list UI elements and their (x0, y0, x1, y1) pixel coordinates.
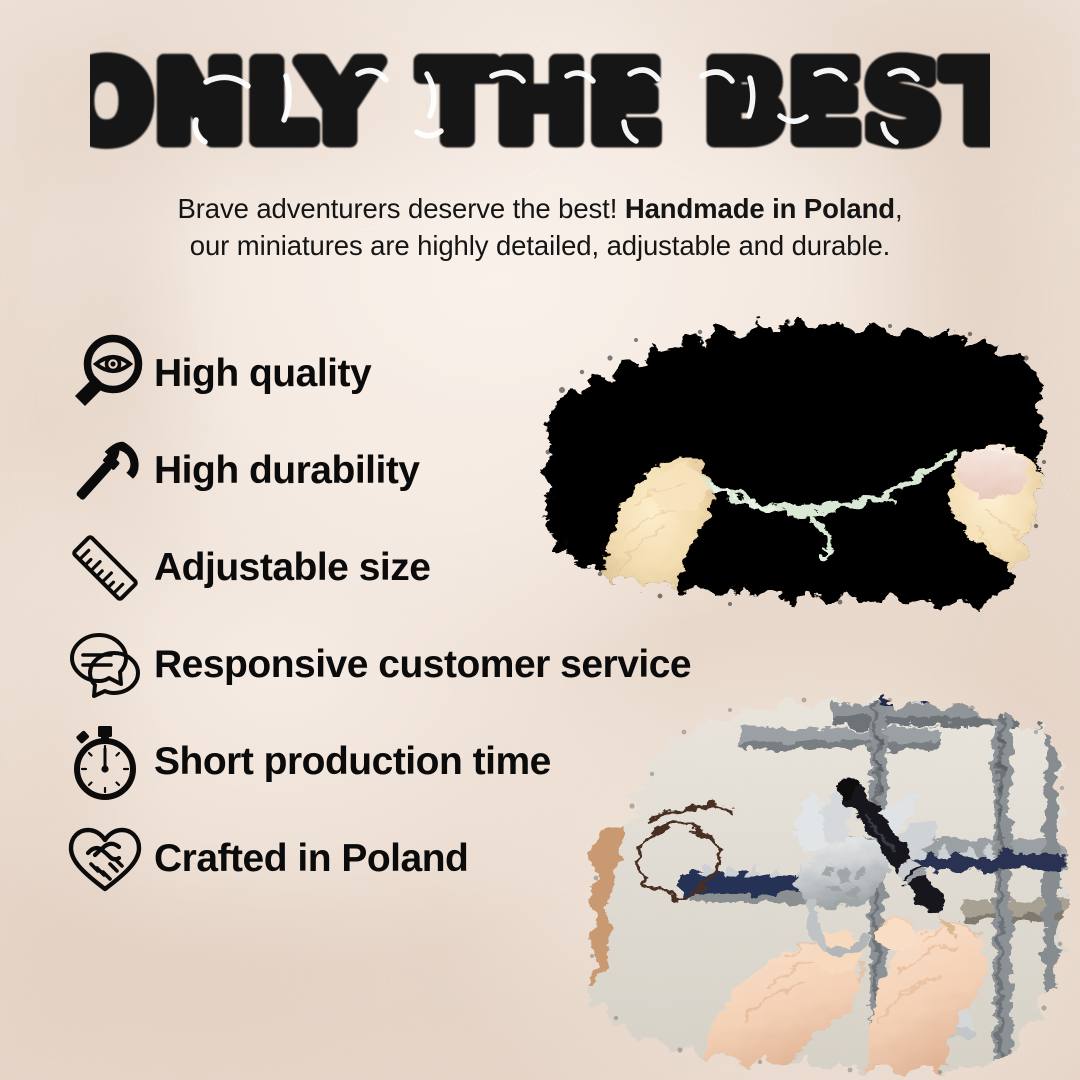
miniature-closeup-photo (540, 312, 1052, 612)
page-title: ONLY THE BEST (0, 44, 1080, 166)
subtitle-prefix: Brave adventurers deserve the best! (177, 193, 624, 224)
subtitle-line-2: our miniatures are highly detailed, adju… (190, 230, 890, 261)
speech-bubbles-icon (62, 622, 148, 708)
feature-label: Crafted in Poland (154, 837, 468, 881)
magnifier-eye-icon (62, 331, 148, 417)
subtitle-suffix: , (895, 193, 903, 224)
feature-label: High durability (154, 449, 420, 493)
headline-glyphs: ONLY THE BEST (90, 44, 990, 166)
ruler-icon (62, 525, 148, 611)
subtitle-line-1: Brave adventurers deserve the best! Hand… (177, 193, 902, 224)
hammer-icon (62, 428, 148, 514)
feature-label: High quality (154, 352, 371, 396)
feature-label: Responsive customer service (154, 643, 691, 687)
headline-bubble-text: ONLY THE BEST (90, 44, 990, 166)
workshop-hands-photo (580, 688, 1080, 1080)
subtitle-emphasis: Handmade in Poland (625, 193, 895, 224)
heart-handshake-icon (62, 816, 148, 902)
feature-label: Short production time (154, 740, 551, 784)
stopwatch-icon (62, 719, 148, 805)
subtitle: Brave adventurers deserve the best! Hand… (60, 190, 1020, 265)
feature-label: Adjustable size (154, 546, 430, 590)
promo-graphic: ONLY THE BEST Br (0, 0, 1080, 1080)
